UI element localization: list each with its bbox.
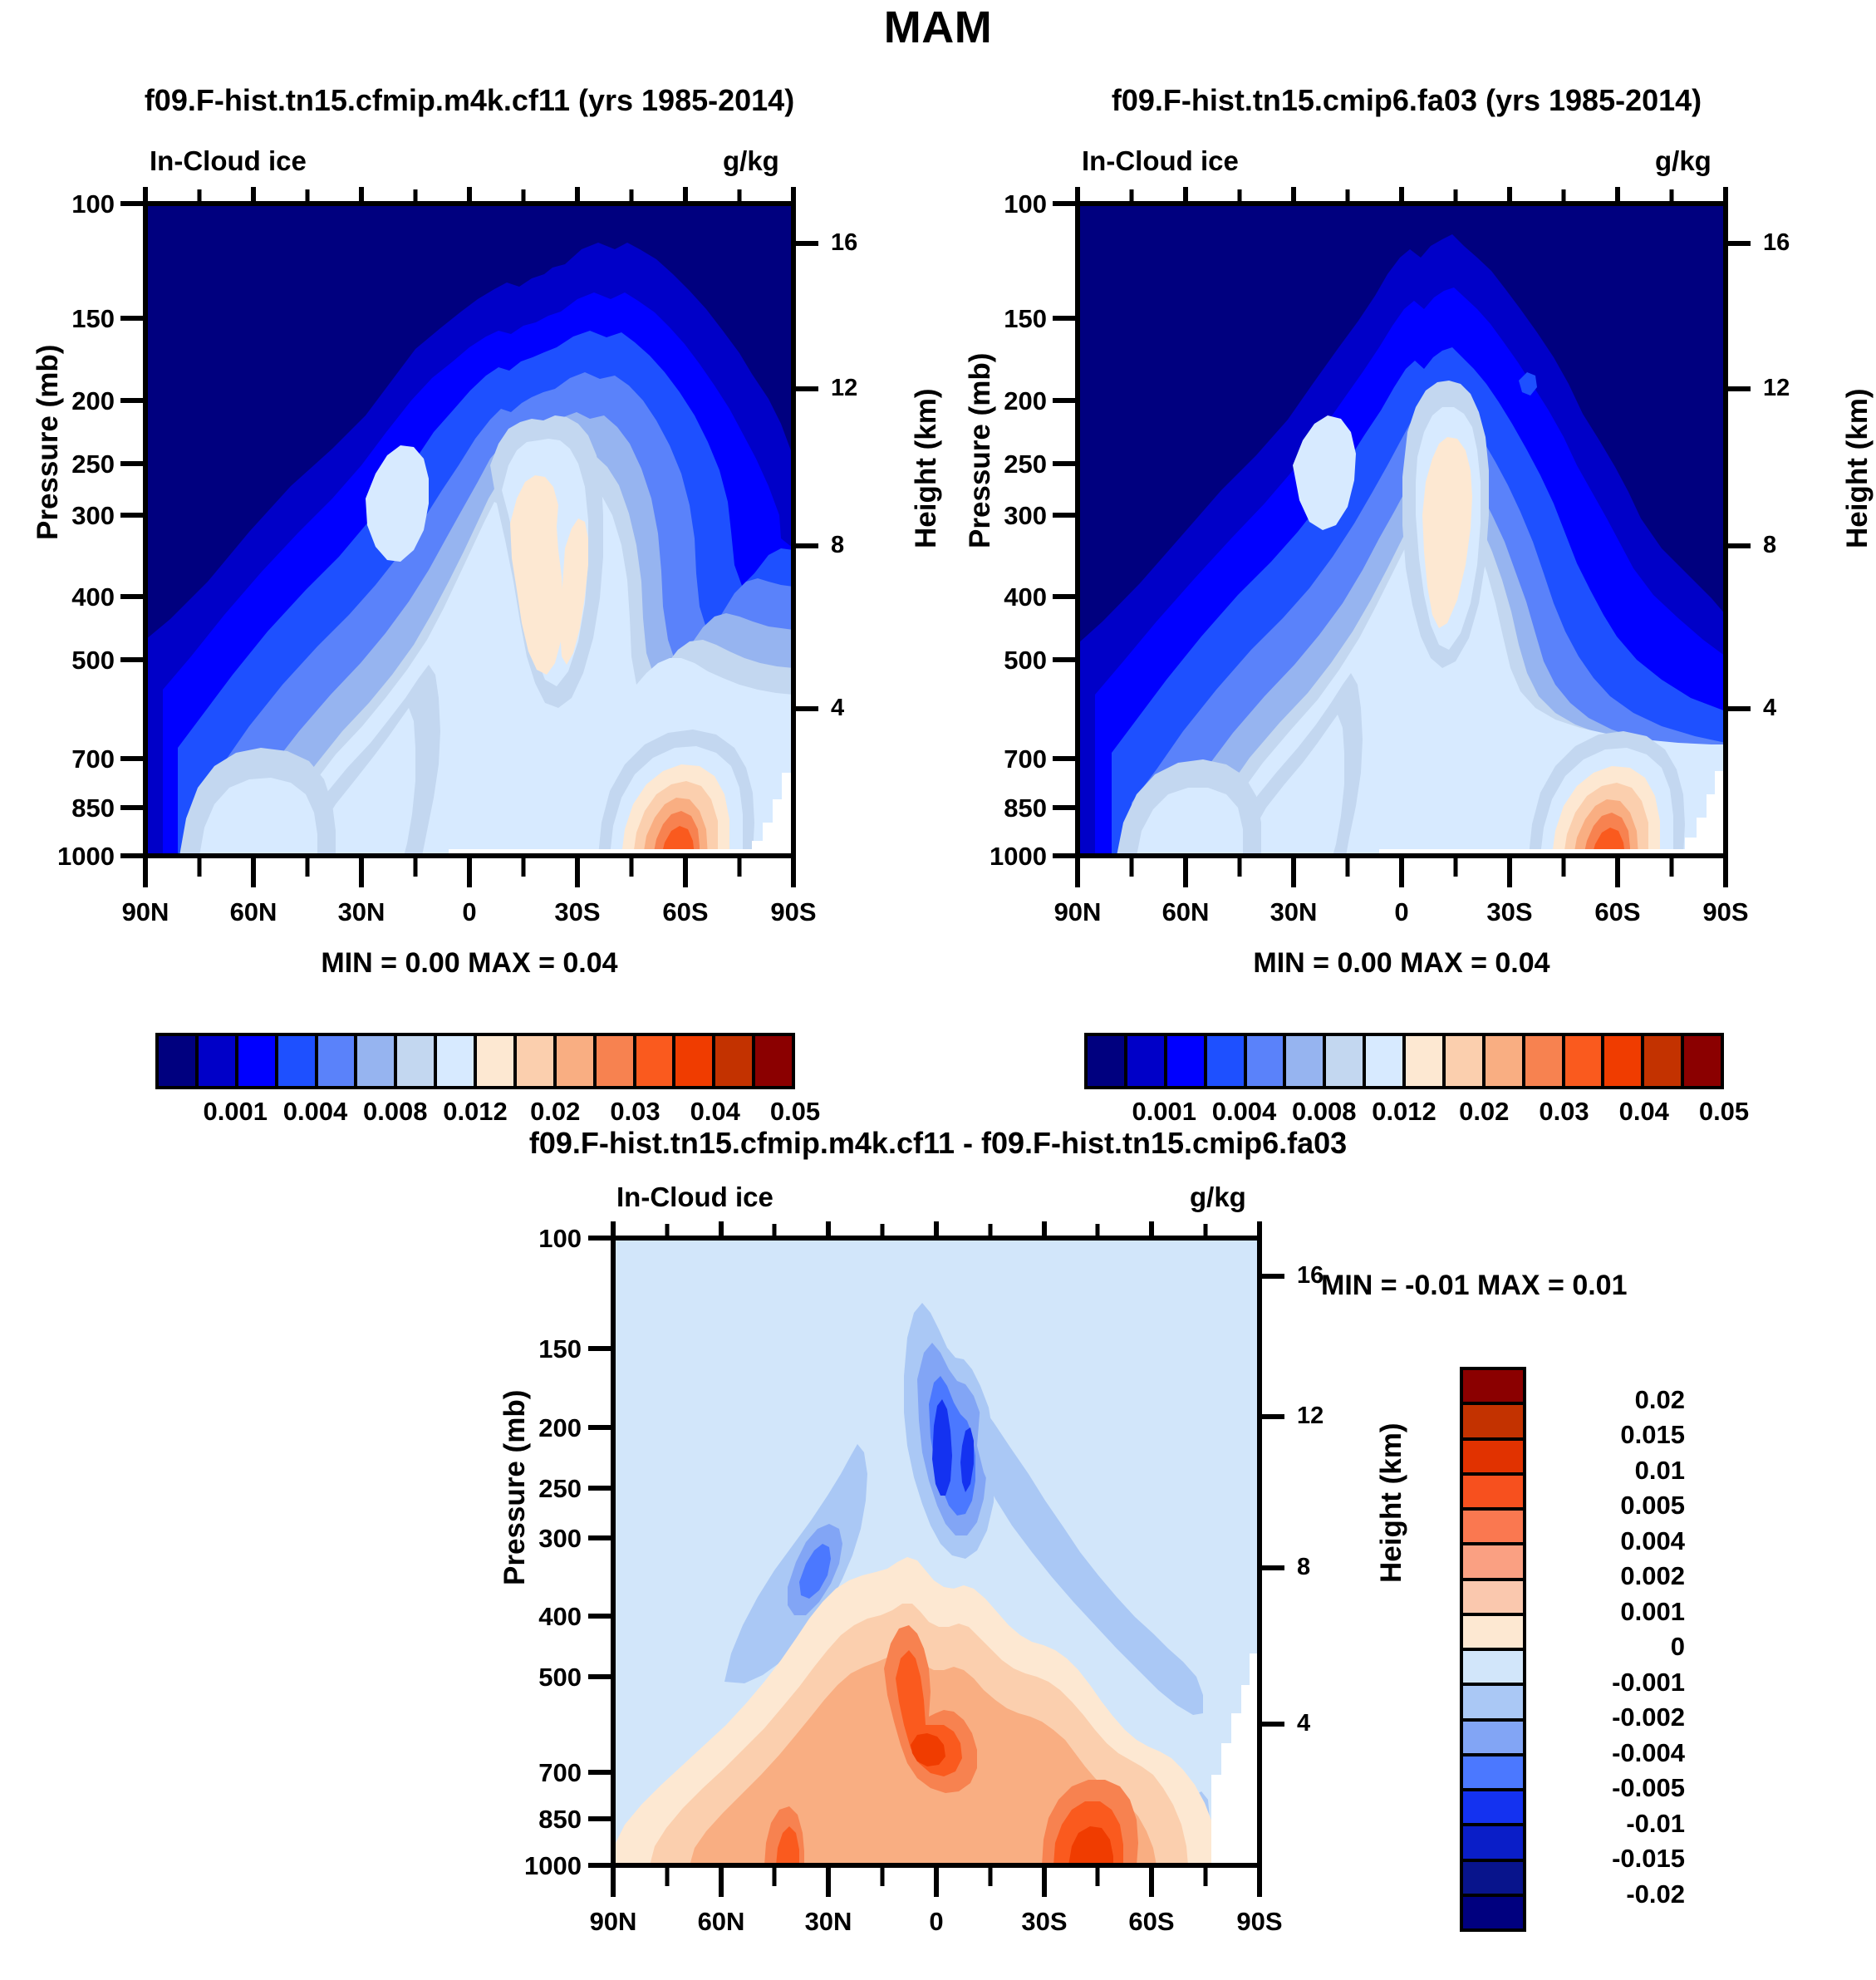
colorbar-cell [195,1036,235,1086]
right-xtick-60N: 60N [1136,897,1235,927]
colorbar-tick-label: -0.01 [1535,1809,1685,1839]
colorbar-cell [1482,1036,1522,1086]
diff-xtick-0: 0 [886,1907,986,1937]
diff-xtick-30N: 30N [778,1907,878,1937]
right-xtick-30S: 30S [1460,897,1559,927]
left-xtick-60S: 60S [636,897,735,927]
colorbar-cell [1463,1753,1523,1788]
diff-variable-label: In-Cloud ice [616,1182,773,1213]
colorbar-cell [1323,1036,1363,1086]
colorbar-cell [1463,1578,1523,1613]
diff-height-axis-title: Height (km) [1375,1423,1408,1584]
left-xtick-30N: 30N [312,897,411,927]
colorbar-cell [1463,1823,1523,1858]
diff-ytick-200: 200 [517,1413,582,1443]
diff-colorbar-labels: 0.020.0150.010.0050.0040.0020.0010-0.001… [1535,1367,1693,1932]
colorbar-cell [434,1036,474,1086]
diff-xtick-60S: 60S [1102,1907,1201,1937]
left-ytick-150: 150 [50,304,115,334]
right-ytick-500: 500 [982,646,1047,676]
colorbar-cell [593,1036,633,1086]
colorbar-cell [1463,1894,1523,1928]
colorbar-cell [1088,1036,1124,1086]
left-htick-12: 12 [831,375,857,402]
left-ytick-200: 200 [50,386,115,416]
right-ytick-700: 700 [982,744,1047,774]
diff-xtick-90N: 90N [563,1907,663,1937]
diff-xtick-30S: 30S [994,1907,1094,1937]
left-htick-4: 4 [831,695,844,722]
right-xtick-60S: 60S [1568,897,1667,927]
colorbar-cell [1463,1542,1523,1577]
left-xtick-0: 0 [420,897,519,927]
right-xtick-90N: 90N [1028,897,1127,927]
colorbar-cell [672,1036,712,1086]
right-htick-12: 12 [1763,375,1790,402]
left-unit-label: g/kg [723,145,779,177]
colorbar-tick-label: 0 [1535,1632,1685,1662]
left-ytick-700: 700 [50,744,115,774]
colorbar-tick-label: 0.05 [729,1097,862,1127]
left-panel-contours [145,204,793,856]
left-ytick-500: 500 [50,646,115,676]
diff-ytick-700: 700 [517,1758,582,1788]
diff-ytick-1000: 1000 [500,1851,582,1881]
right-ytick-100: 100 [982,189,1047,219]
diff-htick-4: 4 [1297,1710,1310,1737]
colorbar-cell [1124,1036,1164,1086]
colorbar-cell [1463,1648,1523,1683]
right-htick-8: 8 [1763,532,1776,559]
right-htick-4: 4 [1763,695,1776,722]
left-panel-title: f09.F-hist.tn15.cfmip.m4k.cf11 (yrs 1985… [0,83,939,118]
left-height-axis-title: Height (km) [910,389,943,549]
colorbar-cell [1463,1859,1523,1894]
colorbar-tick-label: 0.05 [1657,1097,1790,1127]
left-ytick-1000: 1000 [33,842,115,872]
left-variable-label: In-Cloud ice [150,145,307,177]
right-height-axis-title: Height (km) [1841,389,1874,549]
colorbar-tick-label: -0.002 [1535,1702,1685,1732]
colorbar-cell [1601,1036,1641,1086]
right-htick-16: 16 [1763,229,1790,257]
diff-ytick-500: 500 [517,1663,582,1693]
diff-minmax-text: MIN = -0.01 MAX = 0.01 [1321,1270,1628,1302]
colorbar-cell [1463,1472,1523,1507]
colorbar-cell [394,1036,434,1086]
colorbar-cell [1463,1613,1523,1648]
diff-ytick-250: 250 [517,1474,582,1504]
colorbar-cell [752,1036,792,1086]
diff-ytick-400: 400 [517,1602,582,1632]
diff-ytick-150: 150 [517,1334,582,1364]
left-ytick-250: 250 [50,450,115,479]
diff-panel-title: f09.F-hist.tn15.cfmip.m4k.cf11 - f09.F-h… [0,1126,1876,1161]
left-xtick-60N: 60N [204,897,303,927]
colorbar-tick-label: -0.001 [1535,1668,1685,1697]
left-minmax-text: MIN = 0.00 MAX = 0.04 [145,947,793,980]
colorbar-cell [354,1036,394,1086]
diff-ytick-300: 300 [517,1524,582,1554]
colorbar-cell [159,1036,195,1086]
diff-panel-contours [613,1238,1260,1865]
colorbar-cell [1463,1370,1523,1402]
diff-xtick-90S: 90S [1210,1907,1309,1937]
colorbar-tick-label: 0.001 [1535,1597,1685,1627]
diff-ytick-100: 100 [517,1224,582,1254]
colorbar-cell [633,1036,673,1086]
diff-htick-8: 8 [1297,1554,1310,1581]
colorbar-tick-label: 0.015 [1535,1420,1685,1450]
colorbar-cell [275,1036,315,1086]
colorbar-cell [1562,1036,1602,1086]
colorbar-cell [1442,1036,1482,1086]
colorbar-cell [1363,1036,1402,1086]
colorbar-cell [553,1036,593,1086]
right-ytick-400: 400 [982,582,1047,612]
colorbar-tick-label: -0.015 [1535,1844,1685,1874]
right-ytick-300: 300 [982,501,1047,531]
colorbar-cell [712,1036,752,1086]
left-xtick-30S: 30S [528,897,627,927]
colorbar-tick-label: 0.02 [1535,1385,1685,1415]
diff-colorbar [1460,1367,1526,1932]
right-ytick-150: 150 [982,304,1047,334]
colorbar-cell [1463,1788,1523,1823]
left-ytick-300: 300 [50,501,115,531]
right-xtick-90S: 90S [1676,897,1775,927]
right-xtick-30N: 30N [1244,897,1343,927]
colorbar-cell [315,1036,355,1086]
colorbar-cell [513,1036,553,1086]
colorbar-cell [1244,1036,1284,1086]
diff-htick-12: 12 [1297,1403,1324,1430]
colorbar-cell [1204,1036,1244,1086]
right-ytick-250: 250 [982,450,1047,479]
colorbar-cell [1463,1402,1523,1437]
diff-xtick-60N: 60N [671,1907,771,1937]
left-htick-16: 16 [831,229,857,257]
diff-ytick-850: 850 [517,1805,582,1835]
colorbar-cell [1463,1683,1523,1717]
colorbar-cell [1402,1036,1442,1086]
right-unit-label: g/kg [1655,145,1711,177]
colorbar-tick-label: -0.02 [1535,1879,1685,1909]
left-htick-8: 8 [831,532,844,559]
right-variable-label: In-Cloud ice [1082,145,1239,177]
right-colorbar [1084,1033,1724,1089]
left-colorbar [155,1033,795,1089]
diff-htick-16: 16 [1297,1262,1324,1290]
left-xtick-90S: 90S [744,897,843,927]
right-ytick-200: 200 [982,386,1047,416]
colorbar-cell [1463,1718,1523,1753]
right-ytick-1000: 1000 [965,842,1047,872]
colorbar-tick-label: -0.005 [1535,1773,1685,1803]
left-ytick-400: 400 [50,582,115,612]
colorbar-cell [1463,1507,1523,1542]
right-xtick-0: 0 [1352,897,1451,927]
right-minmax-text: MIN = 0.00 MAX = 0.04 [1078,947,1726,980]
colorbar-cell [1681,1036,1721,1086]
colorbar-cell [1522,1036,1562,1086]
left-ytick-850: 850 [50,793,115,823]
diff-unit-label: g/kg [1190,1182,1246,1213]
right-panel-contours [1078,204,1726,856]
colorbar-cell [1641,1036,1681,1086]
colorbar-tick-label: 0.01 [1535,1456,1685,1486]
colorbar-cell [474,1036,513,1086]
left-ytick-100: 100 [50,189,115,219]
colorbar-tick-label: 0.002 [1535,1561,1685,1591]
colorbar-cell [1164,1036,1204,1086]
colorbar-cell [235,1036,275,1086]
right-ytick-850: 850 [982,793,1047,823]
colorbar-tick-label: 0.004 [1535,1526,1685,1556]
colorbar-tick-label: -0.004 [1535,1738,1685,1768]
right-panel-title: f09.F-hist.tn15.cmip6.fa03 (yrs 1985-201… [937,83,1876,118]
colorbar-cell [1463,1437,1523,1472]
left-xtick-90N: 90N [96,897,195,927]
colorbar-cell [1283,1036,1323,1086]
colorbar-tick-label: 0.005 [1535,1491,1685,1521]
